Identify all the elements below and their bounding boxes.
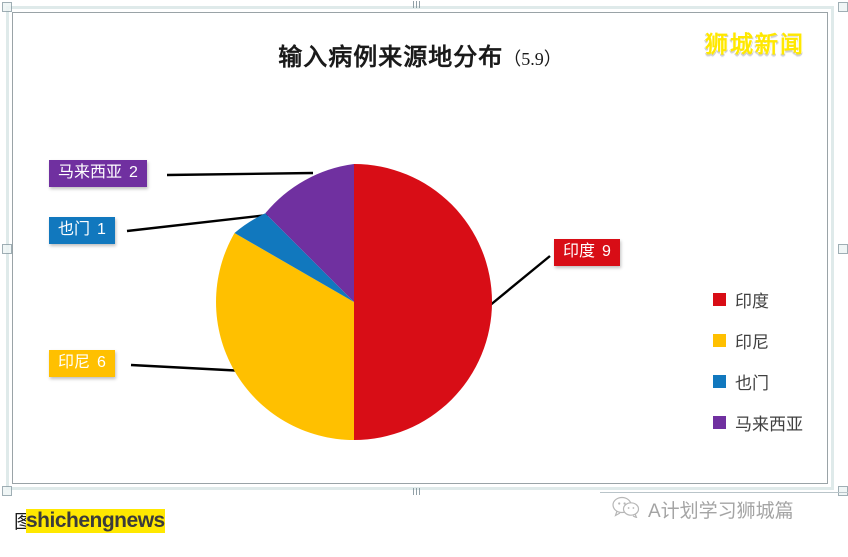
legend-item-yemen[interactable]: 也门 xyxy=(713,361,833,402)
data-label-india-name: 印度 xyxy=(563,243,595,260)
wechat-account-bar[interactable]: A计划学习狮城篇 xyxy=(612,496,794,523)
data-label-malaysia-name: 马来西亚 xyxy=(58,164,122,181)
data-label-india[interactable]: 印度9 xyxy=(554,239,620,266)
legend-swatch-malaysia xyxy=(713,416,726,429)
data-label-yemen-name: 也门 xyxy=(58,221,90,238)
resize-handle-top-left[interactable] xyxy=(2,2,12,12)
legend-swatch-india xyxy=(713,293,726,306)
resize-handle-middle-right[interactable] xyxy=(838,244,848,254)
legend-item-indonesia[interactable]: 印尼 xyxy=(713,320,833,361)
data-label-india-value: 9 xyxy=(602,243,611,260)
chart-legend: 印度 印尼 也门 马来西亚 xyxy=(713,279,833,443)
chart-canvas: 输入病例来源地分布（5.9） 狮城新闻 xyxy=(12,12,828,484)
bottom-divider xyxy=(600,492,848,493)
credit-block: 图表制作：思璐 shichengnews xyxy=(14,505,434,537)
data-label-malaysia-value: 2 xyxy=(129,164,138,181)
wechat-icon xyxy=(612,496,640,523)
legend-label-malaysia: 马来西亚 xyxy=(735,410,803,435)
legend-swatch-yemen xyxy=(713,375,726,388)
legend-item-india[interactable]: 印度 xyxy=(713,279,833,320)
legend-label-yemen: 也门 xyxy=(735,369,769,394)
resize-handle-top[interactable] xyxy=(412,1,423,8)
data-label-yemen-value: 1 xyxy=(97,221,106,238)
credit-watermark-english: shichengnews xyxy=(26,509,165,533)
data-label-indonesia-name: 印尼 xyxy=(58,354,90,371)
legend-label-indonesia: 印尼 xyxy=(735,328,769,353)
pie-chart xyxy=(215,163,493,441)
chart-title-date: （5.9） xyxy=(503,49,562,69)
leader-line-india xyxy=(483,256,550,311)
pie-svg xyxy=(215,163,493,441)
embedded-chart-object[interactable]: 输入病例来源地分布（5.9） 狮城新闻 xyxy=(6,6,834,490)
wechat-account-name: A计划学习狮城篇 xyxy=(648,496,794,523)
resize-handle-middle-left[interactable] xyxy=(2,244,12,254)
pie-slice-india xyxy=(354,164,492,440)
legend-item-malaysia[interactable]: 马来西亚 xyxy=(713,402,833,443)
resize-handle-bottom-left[interactable] xyxy=(2,486,12,496)
resize-handle-bottom[interactable] xyxy=(412,488,423,495)
watermark-text: 狮城新闻 xyxy=(705,25,805,59)
legend-label-india: 印度 xyxy=(735,287,769,312)
resize-handle-bottom-right[interactable] xyxy=(838,486,848,496)
data-label-indonesia-value: 6 xyxy=(97,354,106,371)
data-label-yemen[interactable]: 也门1 xyxy=(49,217,115,244)
chart-title-main: 输入病例来源地分布 xyxy=(278,44,503,71)
resize-handle-top-right[interactable] xyxy=(838,2,848,12)
data-label-malaysia[interactable]: 马来西亚2 xyxy=(49,160,147,187)
legend-swatch-indonesia xyxy=(713,334,726,347)
data-label-indonesia[interactable]: 印尼6 xyxy=(49,350,115,377)
